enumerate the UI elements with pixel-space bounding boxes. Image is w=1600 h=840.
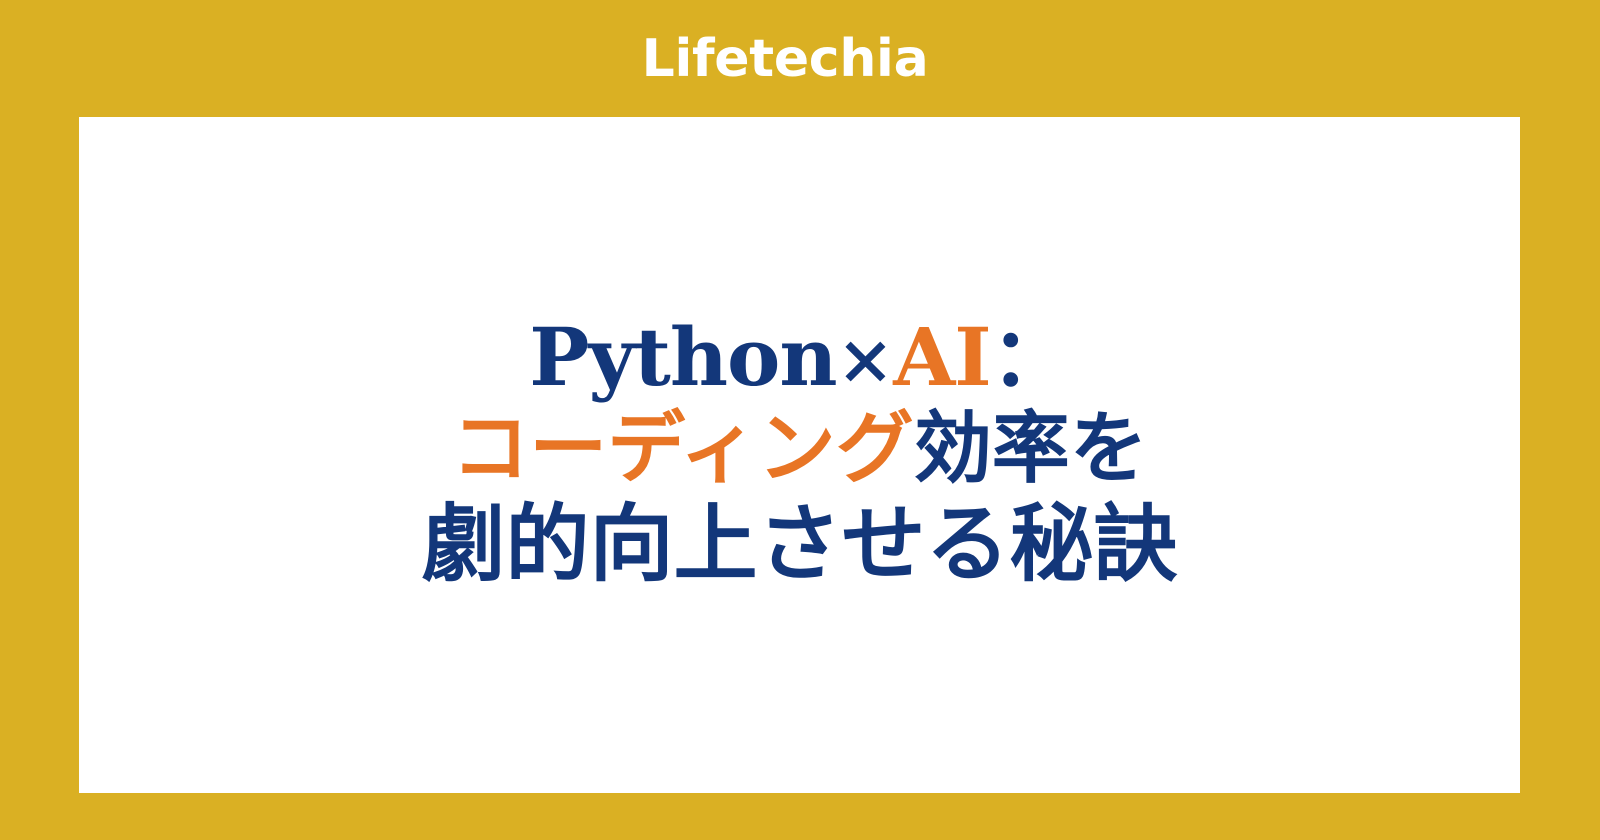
title-line-3: 劇的向上させる秘訣: [79, 496, 1520, 592]
title-segment-secret: 劇的向上させる秘訣: [421, 494, 1177, 593]
title-segment-multiply-sign: ×: [837, 319, 894, 400]
title-segment-colon: ：: [991, 310, 1070, 404]
title-line-2: コーディング効率を: [79, 405, 1520, 494]
title-segment-coding: コーディング: [451, 403, 914, 494]
brand-title: Lifetechia: [642, 33, 929, 85]
content-card: Python×AI： コーディング効率を 劇的向上させる秘訣: [79, 117, 1520, 793]
brand-header: Lifetechia: [0, 0, 1570, 117]
title-line-1: Python×AI：: [79, 312, 1520, 403]
title-segment-ai: AI: [893, 310, 991, 404]
thumbnail-canvas: Lifetechia Python×AI： コーディング効率を 劇的向上させる秘…: [0, 0, 1600, 840]
article-title: Python×AI： コーディング効率を 劇的向上させる秘訣: [79, 312, 1520, 598]
title-segment-python: Python: [529, 310, 836, 404]
title-segment-efficiency: 効率を: [914, 403, 1148, 494]
